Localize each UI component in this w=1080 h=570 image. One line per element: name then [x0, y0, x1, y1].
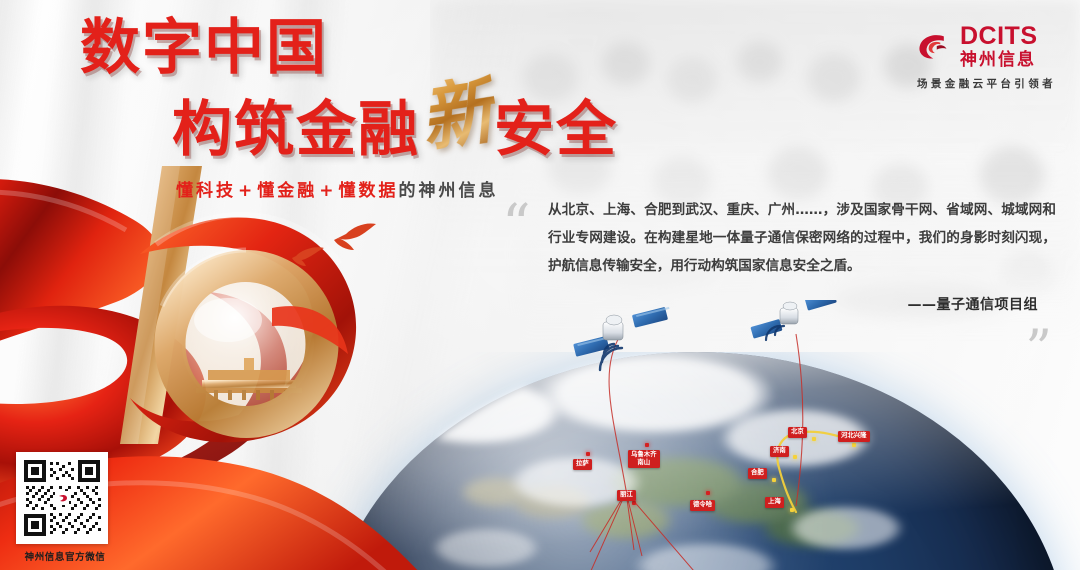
headline-line-2-before: 构筑金融: [172, 100, 420, 160]
subtitle-part-1: 懂科技: [176, 181, 236, 201]
subtitle-part-3: 懂数据: [339, 181, 399, 201]
node-dot: [645, 443, 649, 447]
logo-english-name: DCITS: [960, 24, 1038, 49]
headline-block: 数字中国 构筑金融 新 安全 懂科技+懂金融+懂数据的神州信息: [72, 18, 692, 201]
quote-text: 从北京、上海、合肥到武汉、重庆、广州……，涉及国家骨干网、省域网、城域网和行业专…: [548, 196, 1056, 280]
headline-accent-new: 新: [415, 73, 502, 158]
wechat-qr-block[interactable]: 神州信息官方微信: [16, 452, 114, 563]
quote-close-icon: ”: [1025, 324, 1052, 376]
node-dot: [812, 437, 816, 441]
node-dot: [632, 501, 636, 505]
qr-caption: 神州信息官方微信: [16, 549, 114, 563]
subtitle-tail: 的神州信息: [399, 181, 499, 201]
quote-block: “ 从北京、上海、合肥到武汉、重庆、广州……，涉及国家骨干网、省域网、城域网和行…: [508, 196, 1056, 314]
headline-line-1: 数字中国: [80, 18, 692, 78]
logo-tagline: 场景金融云平台引领者: [917, 76, 1056, 91]
quote-attribution: ——量子通信项目组: [508, 294, 1056, 314]
dcits-swirl-icon: [917, 32, 953, 62]
qr-code-svg: [20, 456, 104, 540]
promotional-poster: 拉萨 丽江 乌鲁木齐 南山 德令哈 合肥 上海 济南 北京 河北兴隆: [0, 0, 1080, 570]
backbone-route: [777, 432, 850, 512]
subtitle-plus-2: +: [319, 181, 336, 201]
dove-icons: [250, 218, 390, 288]
headline-line-2: 构筑金融 新 安全: [172, 88, 692, 162]
node-dot: [852, 443, 856, 447]
logo-text: DCITS 神州信息: [960, 24, 1038, 69]
headline-line-2-after: 安全: [494, 100, 618, 160]
logo-chinese-name: 神州信息: [960, 52, 1038, 69]
node-dot: [790, 508, 794, 512]
qr-code-image[interactable]: [16, 452, 108, 544]
satellite-left-icon: [573, 307, 669, 370]
subtitle-part-2: 懂金融: [257, 181, 317, 201]
node-dot: [586, 452, 590, 456]
logo-row: DCITS 神州信息: [917, 24, 1056, 69]
quote-open-icon: “: [502, 198, 531, 254]
node-dot: [793, 455, 797, 459]
dcits-logo[interactable]: DCITS 神州信息 场景金融云平台引领者: [917, 24, 1056, 91]
node-dot: [772, 478, 776, 482]
subtitle-plus-1: +: [238, 181, 255, 201]
node-dot: [706, 491, 710, 495]
